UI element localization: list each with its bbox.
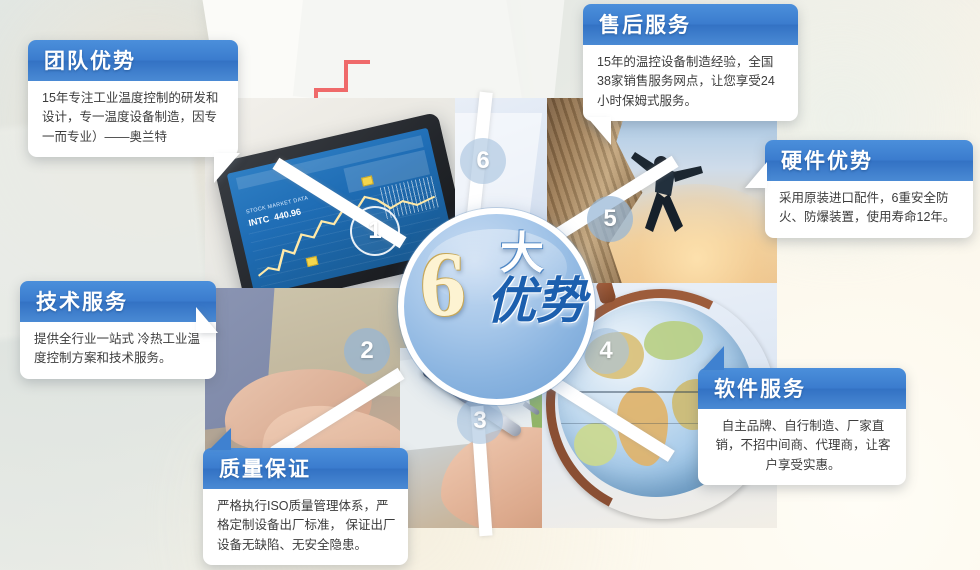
callout-technical-tail xyxy=(196,307,218,333)
callout-hardware-advantage[interactable]: 硬件优势 采用原装进口配件，6重安全防火、防爆装置，使用寿命12年。 xyxy=(765,140,973,238)
callout-after-sales-tail xyxy=(587,117,611,145)
center-emblem: 6 大 优势 xyxy=(398,208,595,405)
callout-quality-body: 严格执行ISO质量管理体系，严格定制设备出厂标准， 保证出厂设备无缺陷、无安全隐… xyxy=(203,489,408,565)
climber-figure-icon xyxy=(631,142,705,238)
hotspot-6[interactable]: 6 xyxy=(460,138,506,184)
callout-team-title: 团队优势 xyxy=(28,40,238,81)
hotspot-2[interactable]: 2 xyxy=(344,328,390,374)
callout-software-body: 自主品牌、自行制造、厂家直销，不招中间商、代理商，让客户享受实惠。 xyxy=(698,409,906,485)
callout-quality-tail xyxy=(209,428,231,450)
emblem-word: 优势 xyxy=(486,276,586,326)
callout-technical-body: 提供全行业一站式 冷热工业温度控制方案和技术服务。 xyxy=(20,322,216,379)
callout-after-sales-title: 售后服务 xyxy=(583,4,798,45)
hotspot-5[interactable]: 5 xyxy=(587,196,633,242)
callout-quality-assurance[interactable]: 质量保证 严格执行ISO质量管理体系，严格定制设备出厂标准， 保证出厂设备无缺陷… xyxy=(203,448,408,565)
emblem-big-char: 大 xyxy=(500,232,544,276)
callout-after-sales-body: 15年的温控设备制造经验，全国38家销售服务网点，让您享受24小时保姆式服务。 xyxy=(583,45,798,121)
callout-technical-service[interactable]: 技术服务 提供全行业一站式 冷热工业温度控制方案和技术服务。 xyxy=(20,281,216,379)
hotspot-1[interactable]: 1 xyxy=(350,206,400,256)
emblem-number: 6 xyxy=(420,238,466,330)
callout-hardware-tail xyxy=(745,162,767,188)
callout-team-advantage[interactable]: 团队优势 15年专注工业温度控制的研发和设计，专一温度设备制造，因专一而专业）—… xyxy=(28,40,238,157)
callout-technical-title: 技术服务 xyxy=(20,281,216,322)
callout-team-body: 15年专注工业温度控制的研发和设计，专一温度设备制造，因专一而专业）——奥兰特 xyxy=(28,81,238,157)
callout-software-tail xyxy=(702,346,724,370)
infographic-canvas: STOCK MARKET DATA INTC 440.96 xyxy=(0,0,980,570)
callout-hardware-body: 采用原装进口配件，6重安全防火、防爆装置，使用寿命12年。 xyxy=(765,181,973,238)
callout-software-title: 软件服务 xyxy=(698,368,906,409)
callout-software-service[interactable]: 软件服务 自主品牌、自行制造、厂家直销，不招中间商、代理商，让客户享受实惠。 xyxy=(698,368,906,485)
callout-team-tail xyxy=(214,153,240,183)
callout-after-sales[interactable]: 售后服务 15年的温控设备制造经验，全国38家销售服务网点，让您享受24小时保姆… xyxy=(583,4,798,121)
callout-quality-title: 质量保证 xyxy=(203,448,408,489)
callout-hardware-title: 硬件优势 xyxy=(765,140,973,181)
